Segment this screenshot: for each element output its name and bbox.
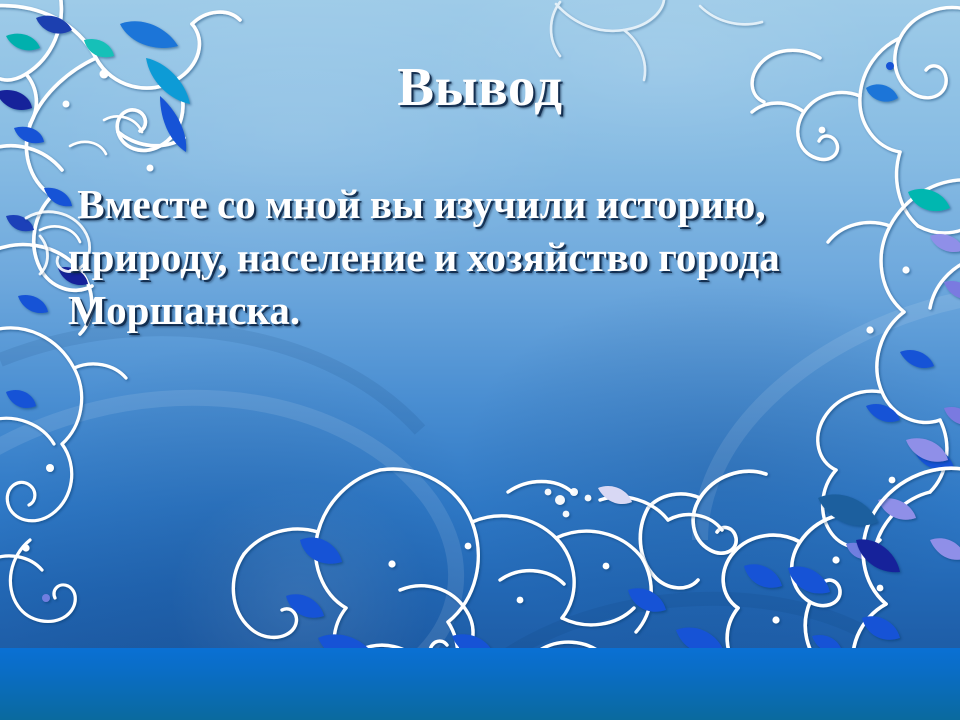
presentation-slide: Вывод Вместе со мной вы изучили историю,… bbox=[0, 0, 960, 720]
slide-body-text: Вместе со мной вы изучили историю, приро… bbox=[68, 178, 918, 337]
bottom-color-bar bbox=[0, 648, 960, 720]
ornament-left-edge bbox=[0, 328, 126, 622]
slide-title: Вывод bbox=[0, 58, 960, 116]
